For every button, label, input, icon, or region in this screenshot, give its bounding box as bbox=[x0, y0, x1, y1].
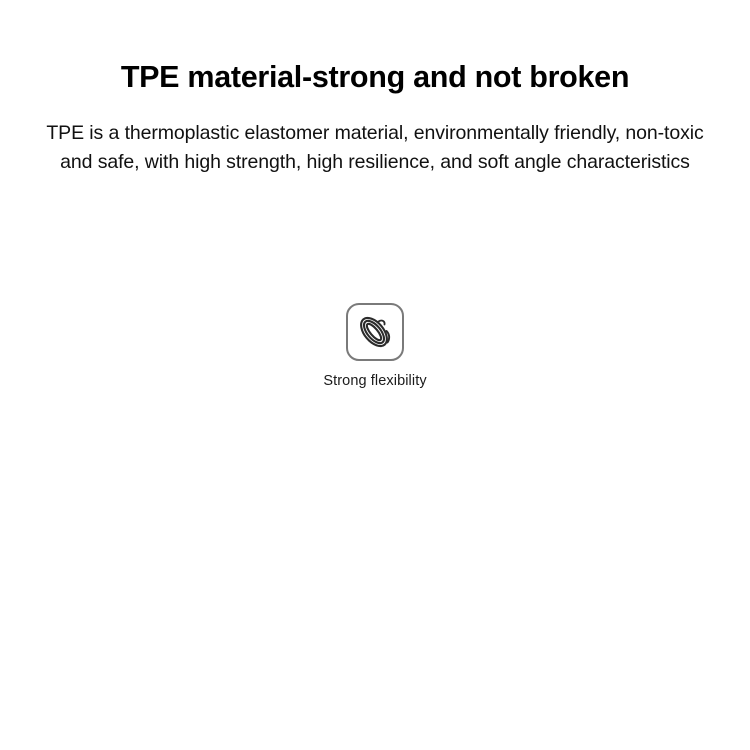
feature-icon-frame bbox=[346, 303, 404, 361]
photo-stage bbox=[0, 430, 750, 750]
product-photo bbox=[0, 430, 750, 750]
page-title: TPE material-strong and not broken bbox=[0, 0, 750, 95]
product-feature-page: TPE material-strong and not broken TPE i… bbox=[0, 0, 750, 750]
feature-caption: Strong flexibility bbox=[0, 361, 750, 389]
photo-edge-blend bbox=[0, 430, 750, 750]
header-block: TPE material-strong and not broken TPE i… bbox=[0, 0, 750, 177]
feature-badge: Strong flexibility bbox=[0, 303, 750, 389]
coiled-cable-icon bbox=[348, 305, 402, 359]
page-subtitle: TPE is a thermoplastic elastomer materia… bbox=[31, 95, 719, 177]
